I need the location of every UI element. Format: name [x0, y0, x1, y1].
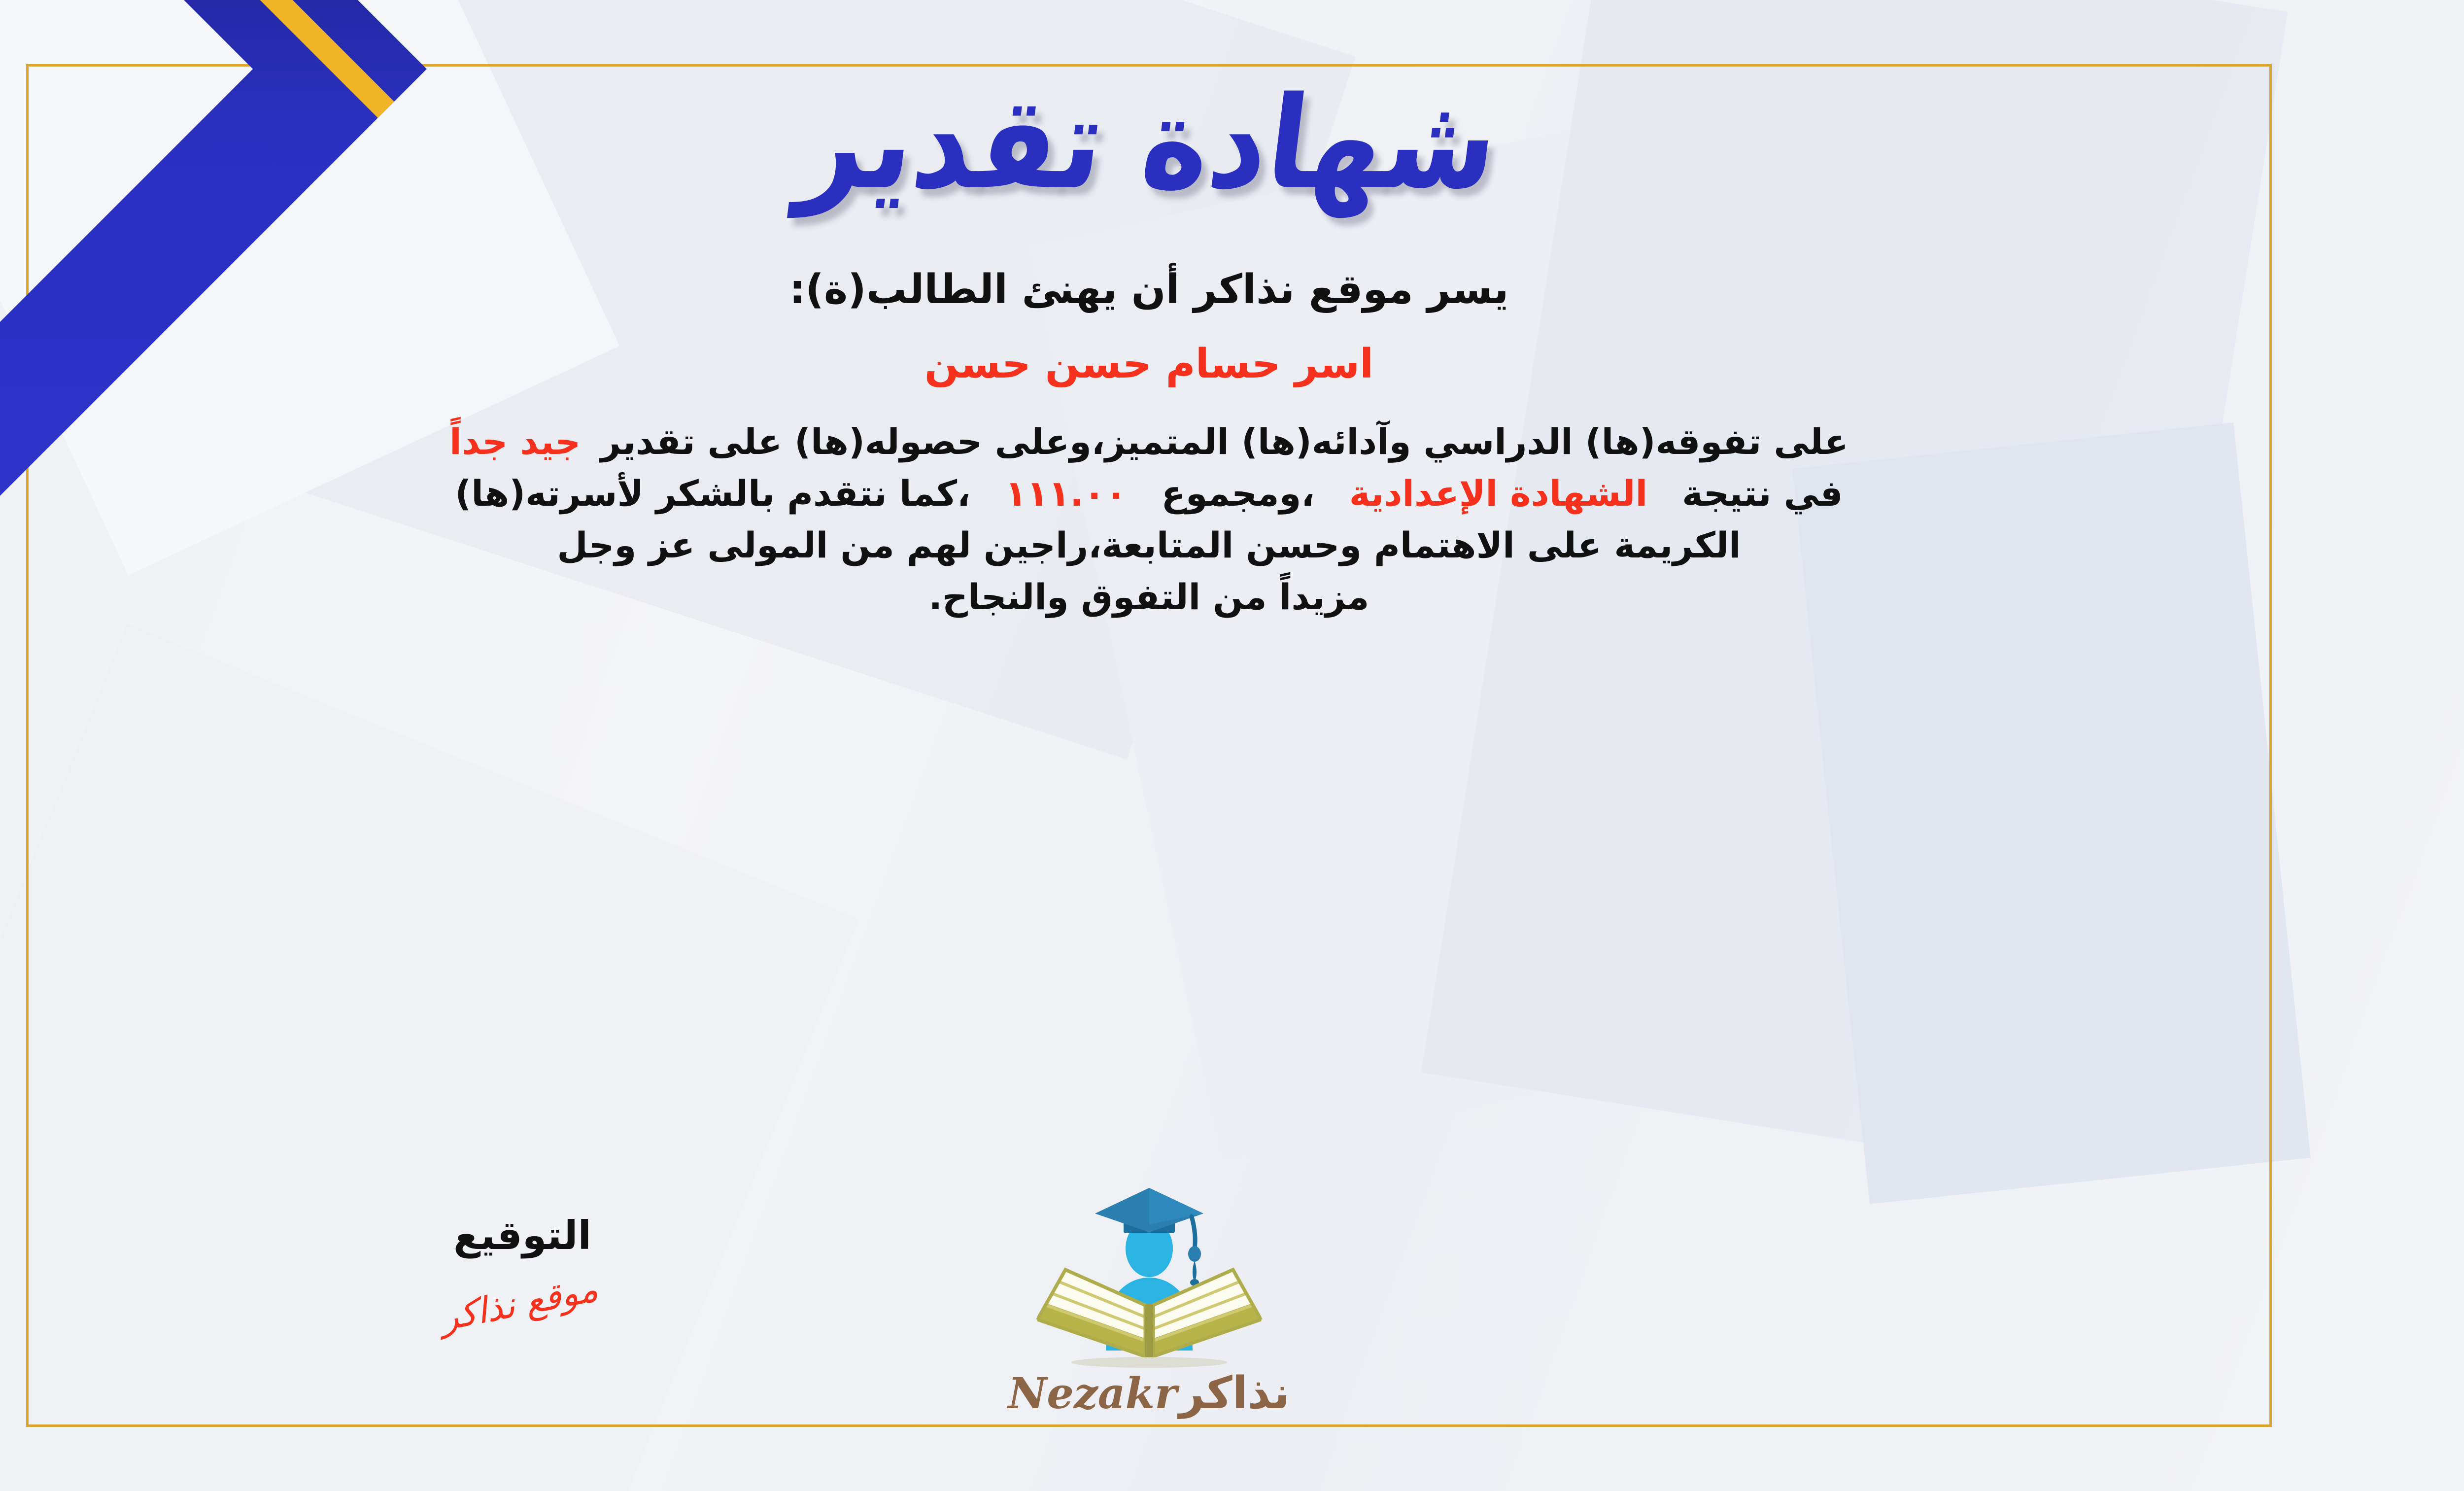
- body-line-2-suffix: ،كما نتقدم بالشكر لأسرته(ها): [455, 473, 970, 514]
- body-line-4: مزيداً من التفوق والنجاح.: [53, 571, 2246, 623]
- chevron-gold-outline: [2454, 0, 2464, 148]
- grade-value: جيد جداً: [449, 421, 581, 462]
- certificate-body: على تفوقه(ها) الدراسي وآدائه(ها) المتميز…: [53, 416, 2246, 623]
- certificate-footer: التوقيع موقع نذاكر: [0, 1183, 2464, 1479]
- body-line-1: على تفوقه(ها) الدراسي وآدائه(ها) المتميز…: [53, 416, 2246, 468]
- chevron-blue-shape: [2454, 0, 2464, 148]
- logo-text-latin: Nezakr: [1008, 1369, 1177, 1419]
- certificate-title: شهادة تقدير: [792, 71, 1506, 217]
- greeting-line: يسر موقع نذاكر أن يهنئ الطالب(ة):: [789, 266, 1509, 313]
- total-score: ١١١.٠٠: [1005, 473, 1127, 514]
- logo-text-arabic: نذاكر: [1179, 1367, 1290, 1419]
- exam-name: الشهادة الإعدادية: [1349, 473, 1647, 514]
- chevron-blue-outline: [2425, 459, 2464, 877]
- body-line-2-mid: ،ومجموع: [1162, 473, 1315, 514]
- certificate-canvas: شهادة تقدير يسر موقع نذاكر أن يهنئ الطال…: [0, 0, 2464, 1491]
- student-name: اسر حسام حسن حسن: [924, 341, 1374, 387]
- chevron-gold-shape: [2425, 459, 2464, 877]
- site-logo: نذاكر Nezakr: [0, 1183, 2464, 1419]
- body-line-1-text: على تفوقه(ها) الدراسي وآدائه(ها) المتميز…: [600, 421, 1848, 462]
- body-line-3: الكريمة على الاهتمام وحسن المتابعة،راجين…: [53, 520, 2246, 571]
- body-line-2-prefix: في نتيجة: [1682, 473, 1843, 514]
- body-line-2: في نتيجةالشهادة الإعدادية،ومجموع١١١.٠٠،ك…: [53, 468, 2246, 520]
- graduate-on-book-logo-icon: [1016, 1183, 1282, 1370]
- logo-wordmark: نذاكر Nezakr: [1008, 1367, 1290, 1419]
